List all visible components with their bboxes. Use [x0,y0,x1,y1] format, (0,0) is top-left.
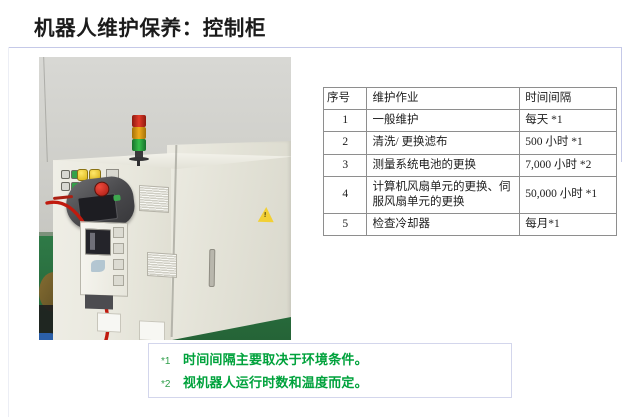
footnote-item: *1 时间间隔主要取决于环境条件。 [161,349,501,372]
panel-button-1 [61,170,70,179]
footnote-box: *1 时间间隔主要取决于环境条件。 *2 视机器人运行时数和温度而定。 [148,343,512,398]
cell-no: 5 [324,214,367,236]
cell-task: 清洗/ 更换滤布 [367,132,520,154]
sub-unit-buttons [113,227,122,285]
footnote-marker: *1 [161,356,183,367]
cabinet-vent-lower [147,252,177,278]
cell-no: 1 [324,110,367,132]
table-row: 1 一般维护 每天 *1 [324,110,617,132]
cell-interval: 每月*1 [520,214,617,236]
cabinet-door-handle [209,249,216,287]
cell-no: 3 [324,154,367,176]
cabinet-vent-upper [139,185,169,213]
cell-interval: 500 小时 *1 [520,132,617,154]
signal-lamp-red [132,115,146,127]
header-interval: 时间间隔 [520,88,617,110]
footnote-item: *2 视机器人运行时数和温度而定。 [161,372,501,395]
page-title: 机器人维护保养：控制柜 [34,11,266,41]
sub-unit-display [85,229,111,256]
table-row: 2 清洗/ 更换滤布 500 小时 *1 [324,132,617,154]
table-row: 3 测量系统电池的更换 7,000 小时 *2 [324,154,617,176]
table-row: 4 计算机风扇单元的更换、伺服风扇单元的更换 50,000 小时 *1 [324,176,617,213]
sub-button-3 [113,259,124,270]
signal-tower-pole [137,160,140,166]
table-row: 5 检查冷却器 每月*1 [324,214,617,236]
cabinet-label-1 [97,312,121,332]
signal-lamp-green [132,139,146,151]
cell-interval: 50,000 小时 *1 [520,176,617,213]
signal-tower-light [131,115,147,161]
cell-interval: 每天 *1 [520,110,617,132]
sub-unit-logo [91,260,105,272]
cell-no: 2 [324,132,367,154]
cell-no: 4 [324,176,367,213]
content-left-rule [8,47,9,417]
sub-button-2 [113,243,124,254]
control-cabinet-photo [39,57,291,340]
sub-unit-lower-module [85,295,113,310]
cell-task: 一般维护 [367,110,520,132]
cell-task: 测量系统电池的更换 [367,154,520,176]
footnote-text: 视机器人运行时数和温度而定。 [183,372,368,391]
maintenance-table: 序号 维护作业 时间间隔 1 一般维护 每天 *1 2 清洗/ 更换滤布 500… [323,87,617,236]
warning-triangle-icon [258,207,275,223]
cell-task: 计算机风扇单元的更换、伺服风扇单元的更换 [367,176,520,213]
sub-button-4 [113,275,124,286]
footnote-text: 时间间隔主要取决于环境条件。 [183,349,368,368]
pendant-screen [77,193,118,223]
header-task: 维护作业 [367,88,520,110]
sub-button-1 [113,227,124,238]
pendant-green-button [113,194,121,201]
cell-interval: 7,000 小时 *2 [520,154,617,176]
cabinet-label-2 [139,320,165,340]
header-no: 序号 [324,88,367,110]
footnote-marker: *2 [161,379,183,390]
table-header-row: 序号 维护作业 时间间隔 [324,88,617,110]
panel-button-3 [61,182,70,191]
cabinet-side-panel [167,141,291,340]
cell-task: 检查冷却器 [367,214,520,236]
signal-lamp-amber [132,127,146,139]
